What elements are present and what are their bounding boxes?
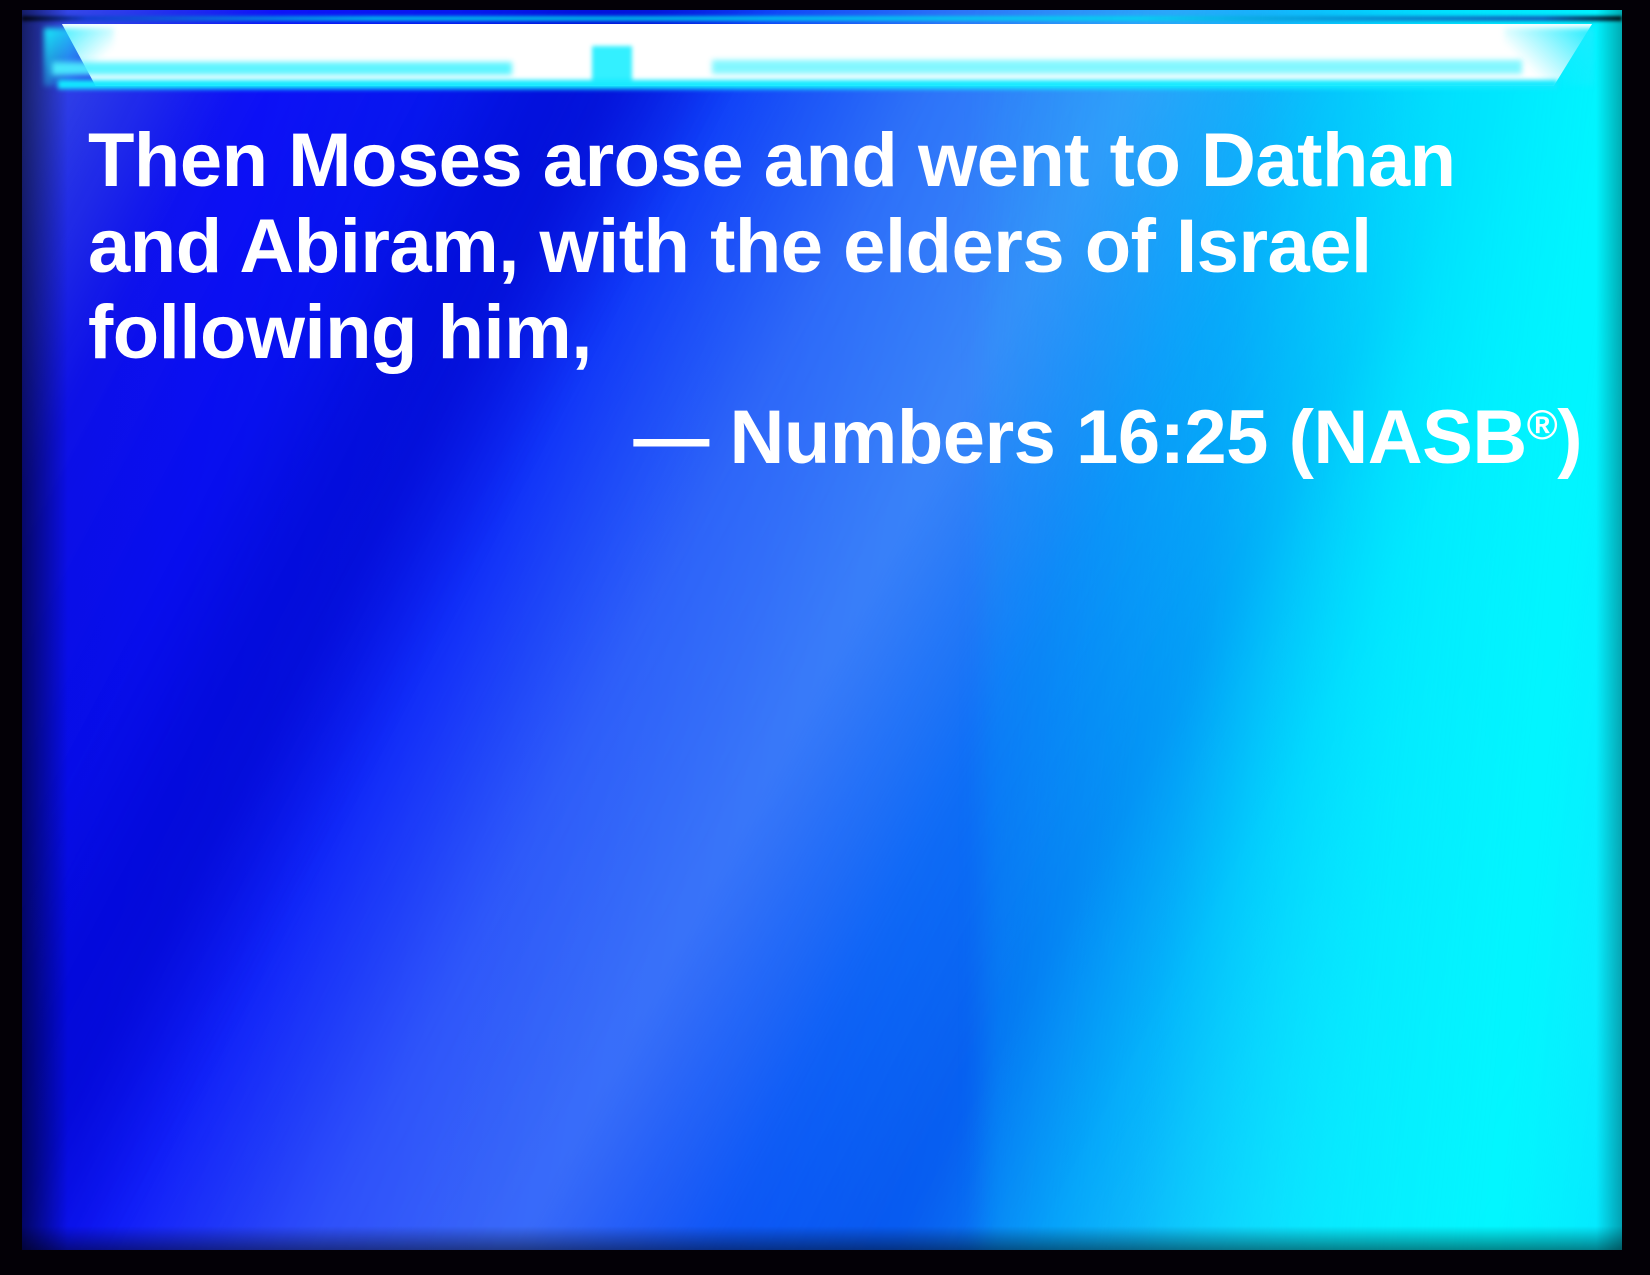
- top-band-thin-rule: [22, 16, 1622, 21]
- top-band-cyan-wisp-a: [52, 62, 512, 75]
- top-band-cyan-wisp-b: [592, 46, 632, 84]
- citation-book: Numbers: [730, 395, 1056, 480]
- citation-translation: NASB: [1313, 395, 1526, 480]
- top-band-cyan-left-wisp: [44, 28, 114, 86]
- verse-citation: — Numbers 16:25 (NASB®): [88, 382, 1588, 481]
- verse-text-block: Then Moses arose and went to Dathan and …: [88, 118, 1588, 481]
- registered-trademark-icon: ®: [1527, 401, 1557, 448]
- verse-line-2: and Abiram, with the elders of Israel: [88, 204, 1588, 290]
- citation-em-dash: —: [633, 395, 709, 480]
- verse-slide: Then Moses arose and went to Dathan and …: [0, 0, 1650, 1275]
- top-band-cyan-right-wisp: [1504, 28, 1594, 86]
- top-band-cyan-wisp-c: [712, 60, 1522, 74]
- top-band-cyan-underline: [58, 80, 1558, 89]
- citation-spacer-3: [1268, 395, 1289, 480]
- citation-close-paren: ): [1557, 395, 1582, 480]
- top-highlight-band: [22, 10, 1622, 120]
- citation-spacer-1: [709, 395, 730, 480]
- slide-canvas: Then Moses arose and went to Dathan and …: [22, 10, 1622, 1250]
- citation-spacer-2: [1055, 395, 1076, 480]
- verse-line-3: following him,: [88, 290, 1588, 376]
- top-white-band: [62, 24, 1592, 86]
- citation-reference: 16:25: [1076, 395, 1268, 480]
- verse-line-1: Then Moses arose and went to Dathan: [88, 118, 1588, 204]
- citation-open-paren: (: [1289, 395, 1314, 480]
